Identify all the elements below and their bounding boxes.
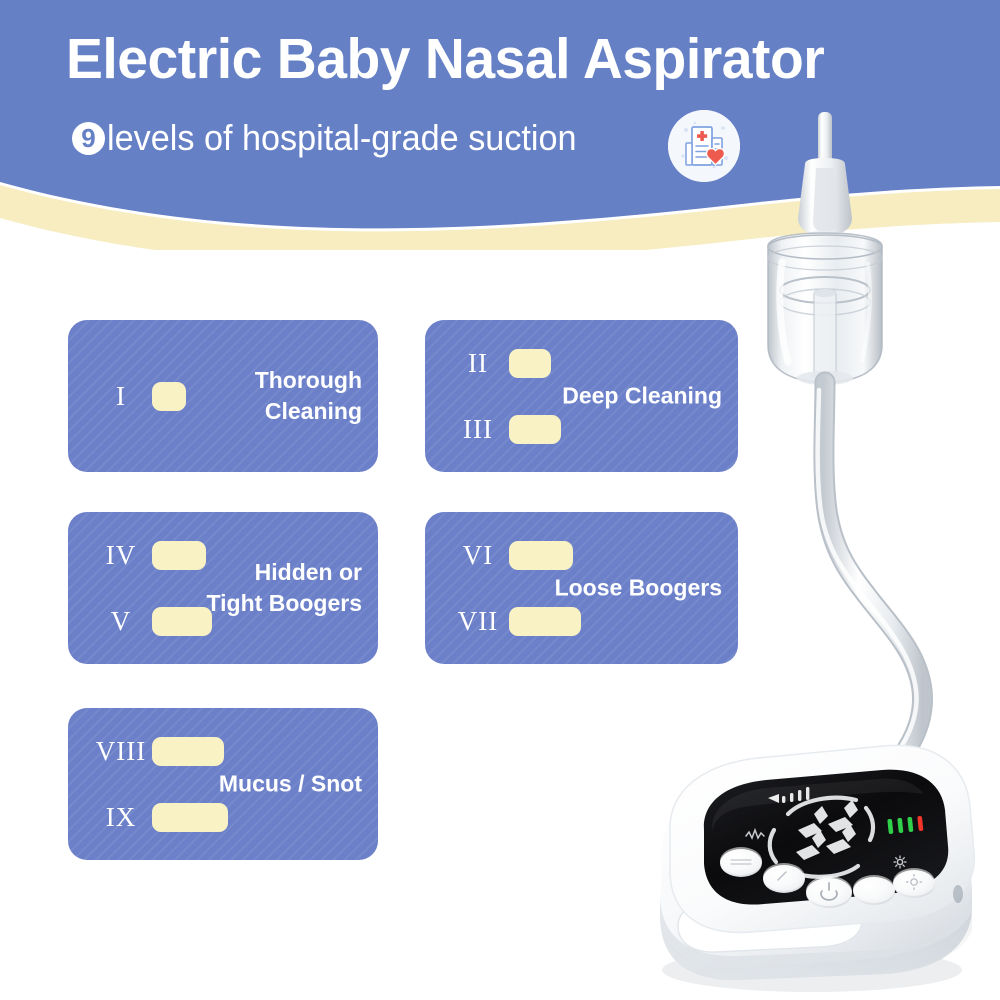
level-card-label: Thorough Cleaning: [202, 365, 362, 427]
level-card-thorough-cleaning: I Thorough Cleaning: [68, 320, 378, 472]
suction-bar: [509, 541, 573, 570]
level-numeral: VII: [447, 606, 509, 636]
level-card-loose-boogers: VI VII Loose Boogers: [425, 512, 738, 664]
level-numeral: II: [447, 348, 509, 378]
level-numeral: III: [447, 414, 509, 444]
level-numeral: I: [90, 381, 152, 411]
control-buttons[interactable]: [720, 847, 935, 908]
level-numeral: V: [90, 606, 152, 636]
suction-bar: [152, 737, 224, 766]
level-numeral: VIII: [90, 736, 152, 766]
subtitle-text: levels of hospital-grade suction: [107, 118, 577, 158]
level-row: VII: [447, 601, 581, 641]
level-card-label: Hidden or Tight Boogers: [194, 557, 362, 619]
button-level-up[interactable]: [853, 875, 895, 905]
level-numeral: VI: [447, 540, 509, 570]
control-panel: [704, 770, 948, 905]
collection-cup: [768, 233, 882, 385]
header-banner: Electric Baby Nasal Aspirator 9 levels o…: [0, 0, 1000, 250]
button-mode[interactable]: [763, 863, 805, 893]
led-indicator-bars: [887, 816, 923, 834]
button-light[interactable]: [893, 868, 935, 898]
level-row: VIII: [90, 731, 228, 771]
suction-bar: [509, 349, 551, 378]
level-row: II: [447, 343, 561, 383]
level-card-mucus-snot: VIII IX Mucus / Snot: [68, 708, 378, 860]
infographic-page: Electric Baby Nasal Aspirator 9 levels o…: [0, 0, 1000, 1000]
airflow-arc-icon: [770, 798, 873, 877]
level-numeral: IX: [90, 802, 152, 832]
level-card-deep-cleaning: II III Deep Cleaning: [425, 320, 738, 472]
page-title: Electric Baby Nasal Aspirator: [66, 28, 920, 90]
level-rows: I: [90, 320, 186, 472]
level-row: IX: [90, 797, 228, 837]
button-power[interactable]: [806, 876, 852, 908]
hospital-heart-icon: [668, 110, 740, 182]
suction-bar: [509, 415, 561, 444]
level-row: III: [447, 409, 561, 449]
level-card-label: Deep Cleaning: [542, 381, 722, 412]
suction-tube: [818, 382, 923, 818]
button-massage[interactable]: [720, 847, 762, 877]
level-row: VI: [447, 535, 581, 575]
level-card-hidden-tight-boogers: IV V Hidden or Tight Boogers: [68, 512, 378, 664]
digital-display: [796, 800, 858, 860]
levels-count-badge: 9: [72, 122, 105, 155]
panel-icon-labels: [746, 830, 906, 868]
suction-bar: [152, 803, 228, 832]
subtitle-row: 9 levels of hospital-grade suction: [72, 112, 601, 164]
suction-bar: [152, 382, 186, 411]
level-row: I: [90, 376, 186, 416]
level-card-label: Loose Boogers: [542, 573, 722, 604]
level-numeral: IV: [90, 540, 152, 570]
suction-level-indicator: [768, 787, 809, 803]
suction-bar: [509, 607, 581, 636]
level-card-label: Mucus / Snot: [190, 769, 362, 800]
device-body: [660, 745, 974, 992]
charging-port: [953, 885, 963, 903]
